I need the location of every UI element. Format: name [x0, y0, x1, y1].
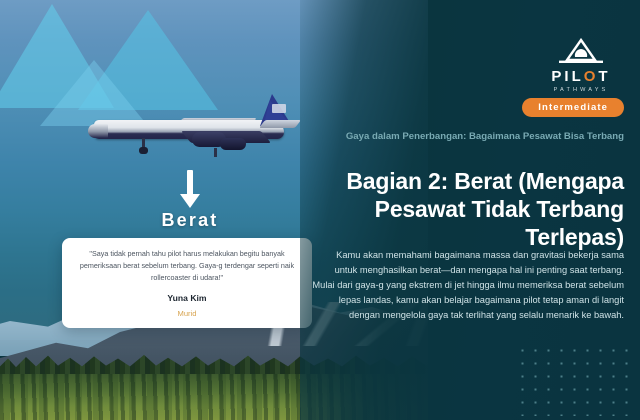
- page-title: Bagian 2: Berat (Mengapa Pesawat Tidak T…: [304, 167, 624, 251]
- horizontal-stabiliser: [259, 120, 301, 128]
- brand-name-part2: T: [598, 68, 610, 85]
- testimonial-quote: "Saya tidak pernah tahu pilot harus mela…: [74, 248, 300, 284]
- dot-grid-decoration: [516, 344, 634, 416]
- testimonial-role: Murid: [74, 309, 300, 318]
- down-arrow-icon: [172, 170, 208, 212]
- brand-tagline: PATHWAYS: [538, 87, 624, 93]
- brand-name-o: O: [584, 68, 599, 85]
- brand-name-part1: PIL: [551, 68, 583, 85]
- lesson-description: Kamu akan memahami bagaimana massa dan g…: [312, 248, 624, 323]
- difficulty-badge: Intermediate: [522, 98, 624, 117]
- course-eyebrow: Gaya dalam Penerbangan: Bagaimana Pesawa…: [324, 130, 624, 144]
- testimonial-card: "Saya tidak pernah tahu pilot harus mela…: [62, 238, 312, 328]
- main-gear: [214, 148, 217, 157]
- brand-name: PILOT: [538, 69, 624, 85]
- nose-cone: [88, 124, 108, 138]
- arrow-head: [180, 194, 200, 208]
- slide-canvas: Berat "Saya tidak pernah tahu pilot haru…: [0, 0, 640, 420]
- brand-logo[interactable]: PILOT PATHWAYS: [538, 38, 624, 93]
- engine-nacelle-2: [220, 138, 246, 150]
- testimonial-author: Yuna Kim: [74, 293, 300, 303]
- tail-livery-mark: [272, 104, 286, 113]
- airliner-icon: [86, 92, 298, 164]
- nose-gear: [142, 138, 145, 149]
- pilot-triangle-wing-icon: [559, 38, 603, 68]
- force-label: Berat: [120, 210, 260, 231]
